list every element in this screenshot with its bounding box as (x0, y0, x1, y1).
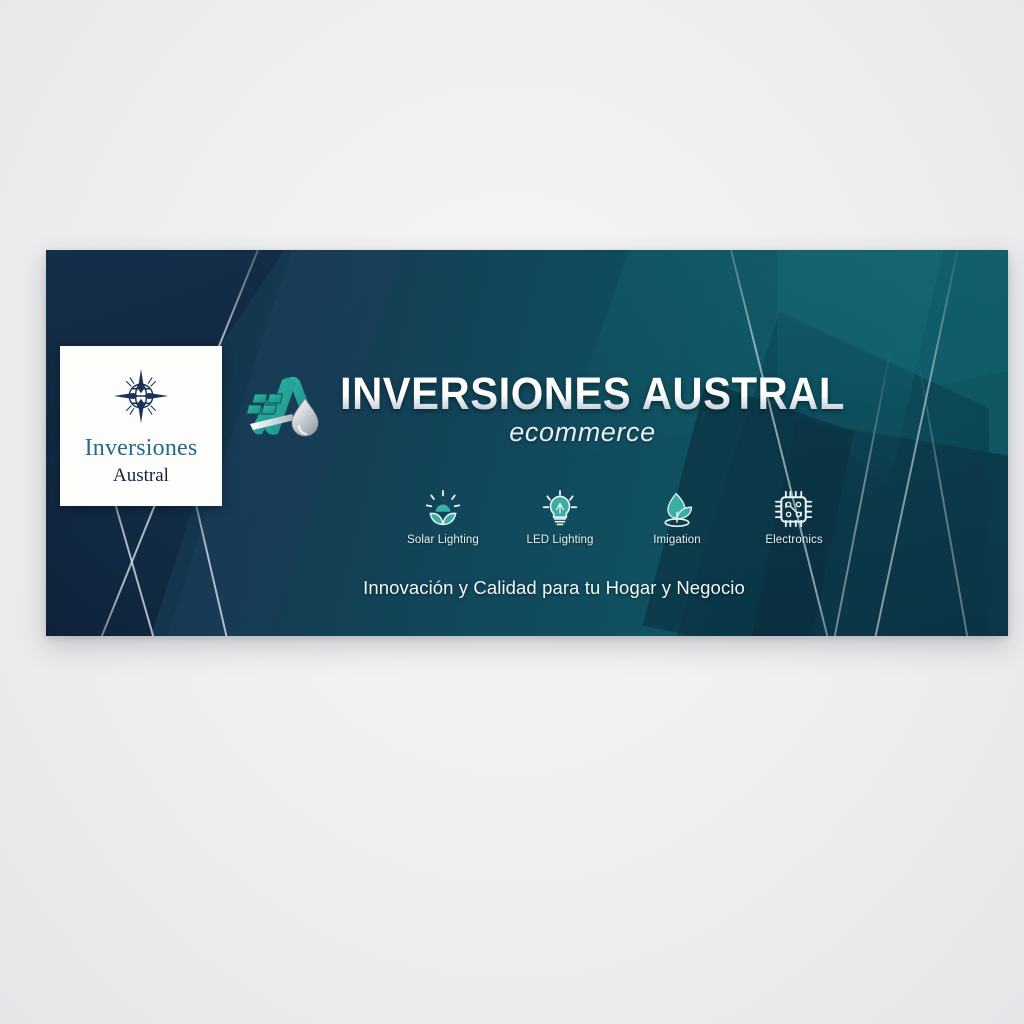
solar-panel-water-drop-a-icon (242, 372, 328, 448)
page-title: INVERSIONES AUSTRAL (340, 372, 845, 415)
led-lighting-icon (540, 490, 580, 528)
feature-label: Solar Lighting (407, 534, 479, 546)
feature-item-irrigation[interactable]: Imigation (635, 490, 719, 546)
tagline: Innovación y Calidad para tu Hogar y Neg… (344, 577, 764, 599)
feature-item-solar-lighting[interactable]: Solar Lighting (401, 490, 485, 546)
feature-label: Electronics (765, 534, 822, 546)
feature-label: Imigation (653, 534, 701, 546)
feature-list: Solar Lighting (401, 490, 836, 546)
brand-lockup: INVERSIONES AUSTRAL ecommerce (242, 372, 883, 448)
feature-label: LED Lighting (526, 534, 593, 546)
banner-mockup: Inversiones Austral (46, 250, 1008, 636)
banner-canvas: Inversiones Austral (46, 250, 1008, 636)
feature-item-led-lighting[interactable]: LED Lighting (518, 490, 602, 546)
logo-word-secondary: Austral (113, 466, 169, 485)
irrigation-leaf-icon (657, 490, 697, 528)
brand-subtitle: ecommerce (340, 417, 825, 448)
feature-item-electronics[interactable]: Electronics (752, 490, 836, 546)
microchip-icon (774, 490, 814, 528)
logo-word-primary: Inversiones (85, 436, 198, 460)
solar-lighting-icon (423, 490, 463, 528)
compass-globe-icon (112, 367, 170, 430)
logo-card: Inversiones Austral (60, 346, 222, 506)
